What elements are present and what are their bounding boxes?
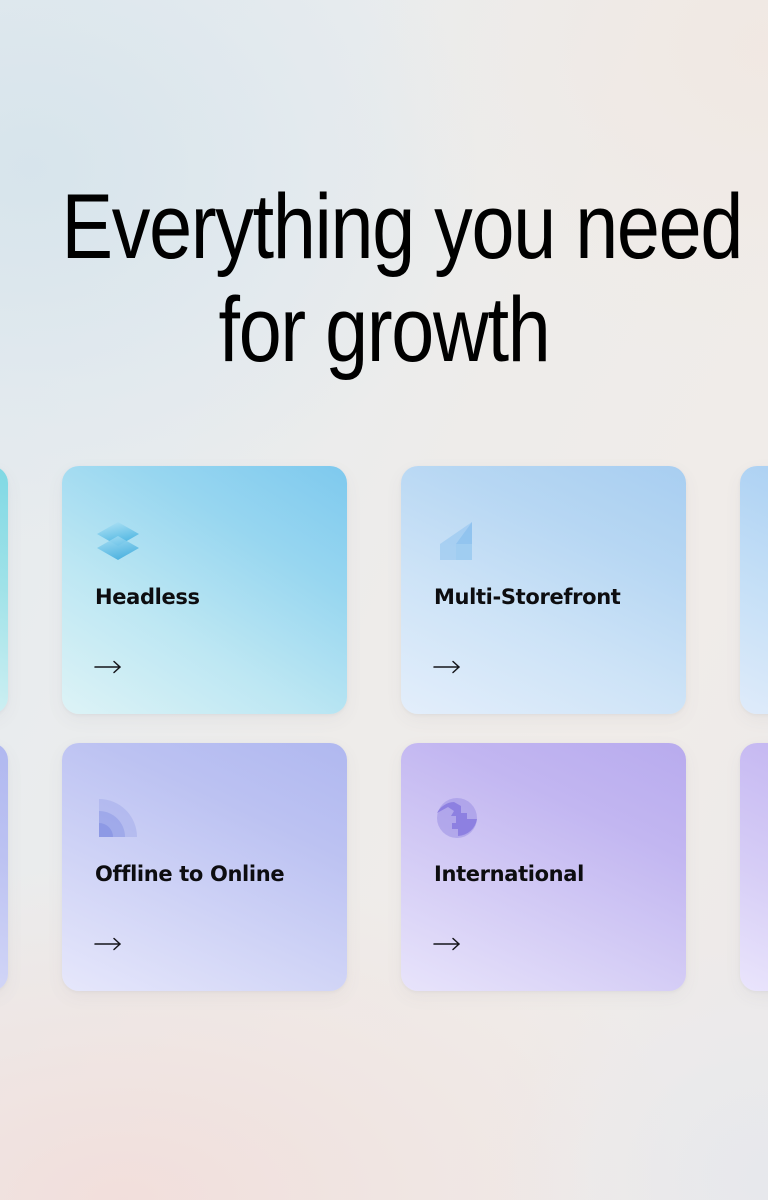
feature-card-partial-right-bottom[interactable]	[740, 743, 768, 991]
feature-card-title: International	[434, 861, 649, 887]
section-heading-line-2: for growth	[61, 279, 706, 382]
feature-card-partial-right-top[interactable]	[740, 466, 768, 714]
feature-card-partial-left-bottom[interactable]	[0, 743, 8, 991]
feature-card-multi-storefront[interactable]: Multi-Storefront	[401, 466, 686, 714]
feature-section: Everything you need for growth	[0, 0, 768, 1200]
feature-card-title: Headless	[95, 584, 310, 610]
arrow-right-icon[interactable]	[433, 659, 463, 675]
signal-arc-icon	[95, 795, 141, 841]
feature-card-title: Multi-Storefront	[434, 584, 649, 610]
feature-card-title: Offline to Online	[95, 861, 310, 887]
feature-card-offline-to-online[interactable]: Offline to Online	[62, 743, 347, 991]
arrow-right-icon[interactable]	[433, 936, 463, 952]
feature-card-international[interactable]: International	[401, 743, 686, 991]
feature-card-partial-left-top[interactable]	[0, 466, 8, 714]
section-heading-line-1: Everything you need	[61, 176, 706, 279]
section-heading: Everything you need for growth	[61, 176, 706, 382]
arrow-right-icon[interactable]	[94, 936, 124, 952]
arrow-right-icon[interactable]	[94, 659, 124, 675]
feature-card-grid: Headless Multi-Storefront	[0, 466, 768, 991]
feature-card-headless[interactable]: Headless	[62, 466, 347, 714]
globe-icon	[434, 795, 480, 841]
layers-icon	[95, 518, 141, 564]
storefront-geometry-icon	[434, 518, 480, 564]
